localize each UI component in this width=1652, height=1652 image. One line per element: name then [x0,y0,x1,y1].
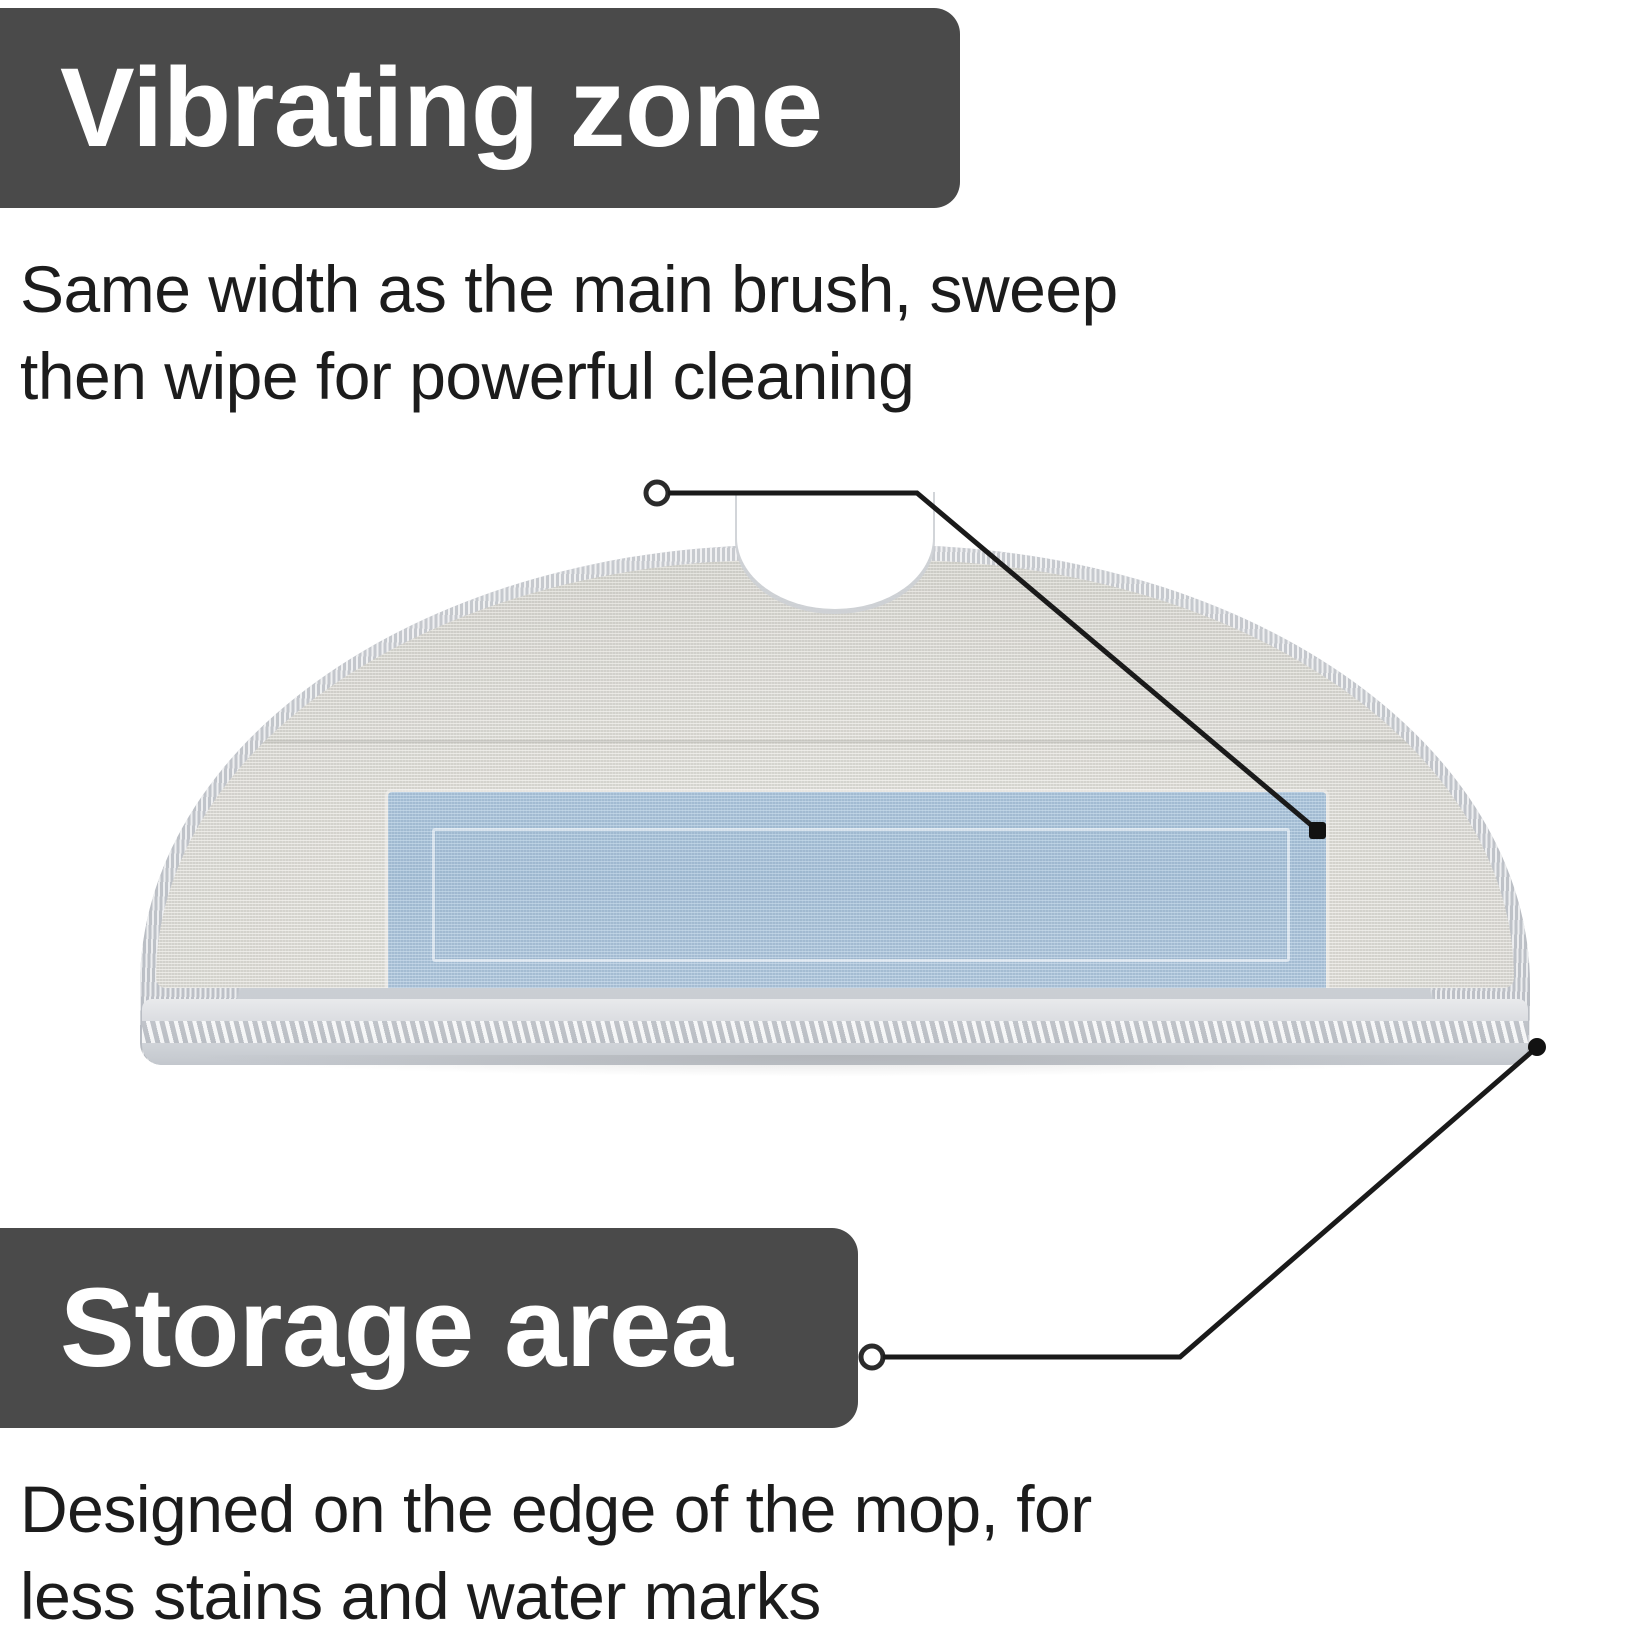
storage-area-badge-label: Storage area [60,1272,733,1384]
pad-drop-shadow [180,1055,1490,1077]
vibrating-zone-panel [388,792,1326,988]
storage-area-description: Designed on the edge of the mop, for les… [20,1466,1360,1640]
pad-hem-stitching [142,1021,1528,1043]
vibrating-zone-inner-stitch [432,828,1290,962]
infographic-page: Vibrating zone Same width as the main br… [0,0,1652,1652]
mop-pad-illustration [140,545,1530,1065]
vibrating-zone-description: Same width as the main brush, sweep then… [20,246,1320,420]
vibrating-zone-badge-label: Vibrating zone [60,52,823,164]
pad-microfiber-face [156,560,1514,988]
vibrating-zone-badge: Vibrating zone [0,8,960,208]
pad-upper-seam [224,740,1446,743]
storage-area-badge: Storage area [0,1228,858,1428]
storage-area-callout [861,1038,1546,1368]
